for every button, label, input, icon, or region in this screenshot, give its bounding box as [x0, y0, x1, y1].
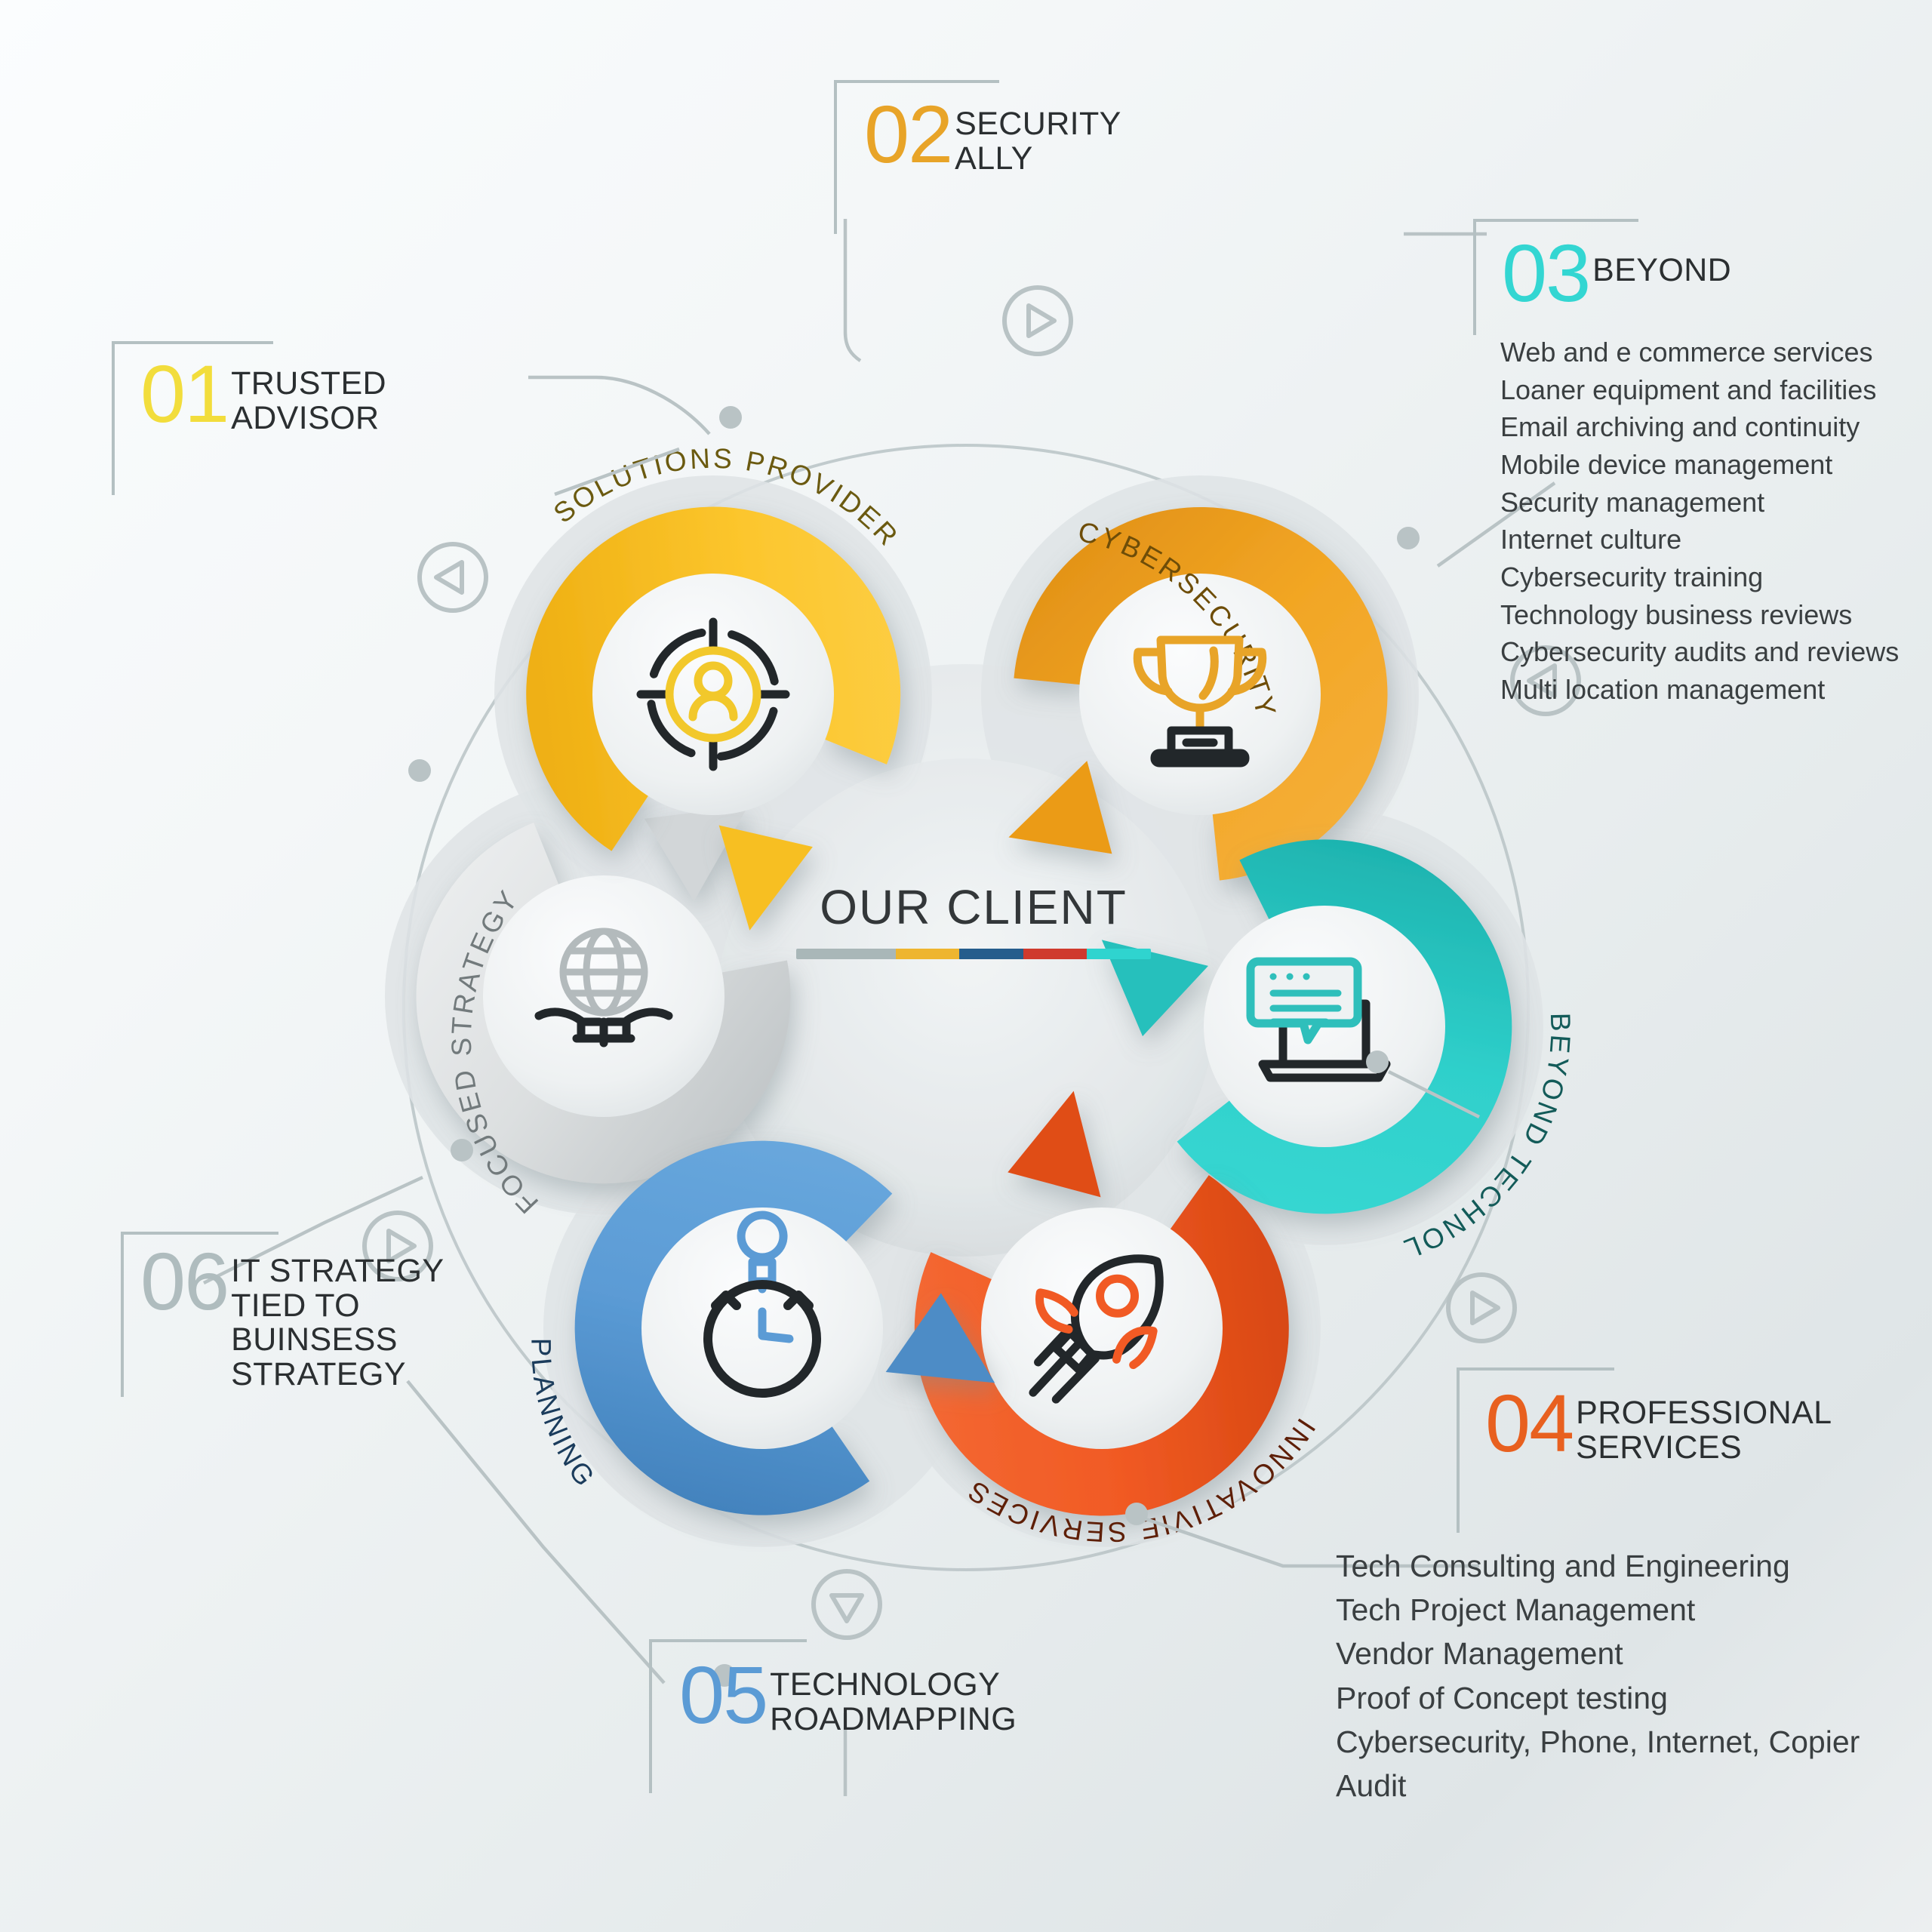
callout-03[interactable]: 03 BEYOND	[1502, 235, 1731, 310]
professional-services-list: Tech Consulting and Engineering Tech Pro…	[1336, 1544, 1932, 1807]
callout-02-number: 02	[864, 97, 952, 171]
callout-06-number: 06	[140, 1244, 228, 1318]
infographic-canvas: SOLUTIONS PROVIDER CYBERSECURITY BEYOND …	[0, 0, 1932, 1932]
callout-01[interactable]: 01 TRUSTED ADVISOR	[140, 356, 386, 435]
callout-02[interactable]: 02 SECURITY ALLY	[864, 97, 1121, 176]
beyond-services-list: Web and e commerce services Loaner equip…	[1500, 334, 1899, 709]
callout-02-title: SECURITY ALLY	[955, 97, 1121, 176]
bar-seg-4	[1023, 949, 1088, 959]
bar-seg-2	[896, 949, 960, 959]
callout-04[interactable]: 04 PROFESSIONAL SERVICES	[1485, 1386, 1832, 1465]
center-block: OUR CLIENT	[785, 879, 1162, 959]
callout-03-number: 03	[1502, 235, 1589, 310]
bar-seg-1	[796, 949, 896, 959]
callout-06-title: IT STRATEGY TIED TO BUINSESS STRATEGY	[231, 1244, 444, 1392]
callout-01-title: TRUSTED ADVISOR	[231, 356, 386, 435]
callout-03-title: BEYOND	[1592, 235, 1731, 288]
bar-seg-5	[1087, 949, 1151, 959]
callout-05-number: 05	[679, 1657, 767, 1732]
callout-05-title: TECHNOLOGY ROADMAPPING	[770, 1657, 1017, 1737]
bar-seg-3	[959, 949, 1023, 959]
callout-06[interactable]: 06 IT STRATEGY TIED TO BUINSESS STRATEGY	[140, 1244, 445, 1392]
callout-01-number: 01	[140, 356, 228, 431]
callout-05[interactable]: 05 TECHNOLOGY ROADMAPPING	[679, 1657, 1017, 1737]
center-color-bar	[796, 949, 1151, 959]
disc-innovativie-services	[981, 1207, 1223, 1449]
callout-04-number: 04	[1485, 1386, 1573, 1460]
callout-04-title: PROFESSIONAL SERVICES	[1576, 1386, 1832, 1465]
center-title: OUR CLIENT	[785, 879, 1162, 935]
